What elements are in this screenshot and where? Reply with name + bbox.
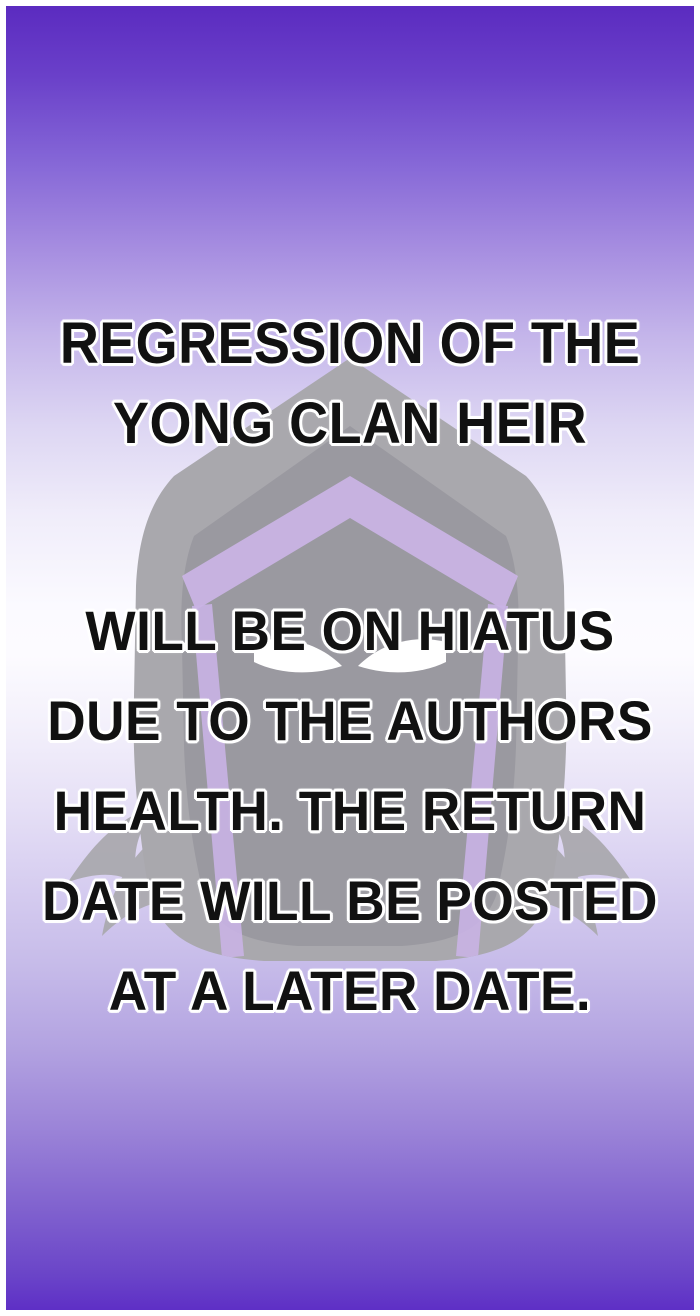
announcement-card: REGRESSION OF THE YONG CLAN HEIR WILL BE…	[6, 6, 694, 1310]
headline-line-2: YONG CLAN HEIR	[30, 384, 670, 464]
headline: REGRESSION OF THE YONG CLAN HEIR	[6, 304, 694, 464]
body-line-4: DATE WILL BE POSTED	[23, 856, 677, 946]
body-line-5: AT A LATER DATE.	[23, 946, 677, 1036]
body-message: WILL BE ON HIATUS DUE TO THE AUTHORS HEA…	[6, 586, 694, 1036]
body-line-2: DUE TO THE AUTHORS	[23, 676, 677, 766]
announcement-text: REGRESSION OF THE YONG CLAN HEIR WILL BE…	[6, 6, 694, 1310]
body-line-3: HEALTH. THE RETURN	[23, 766, 677, 856]
body-line-1: WILL BE ON HIATUS	[23, 586, 677, 676]
headline-line-1: REGRESSION OF THE	[30, 304, 670, 384]
